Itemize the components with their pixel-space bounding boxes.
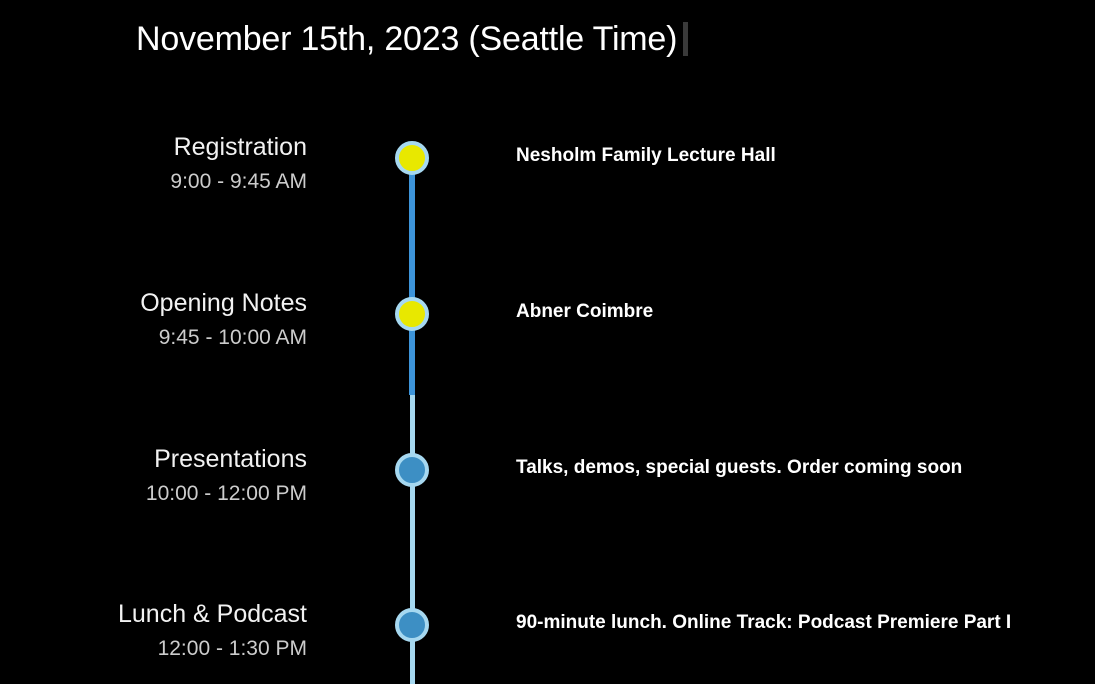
timeline-entry-time: 10:00 - 12:00 PM <box>0 480 307 508</box>
timeline-entry-meta: Opening Notes 9:45 - 10:00 AM <box>0 287 307 352</box>
timeline-spine-active <box>409 158 415 395</box>
timeline-marker-dot[interactable] <box>395 297 429 331</box>
timeline-entry-time: 9:00 - 9:45 AM <box>0 168 307 196</box>
timeline-entry-description: Talks, demos, special guests. Order comi… <box>516 457 962 479</box>
timeline-entry-description: 90-minute lunch. Online Track: Podcast P… <box>516 612 1011 634</box>
timeline-entry-time: 12:00 - 1:30 PM <box>0 635 307 663</box>
timeline-entry-description: Abner Coimbre <box>516 301 653 323</box>
timeline-entry-time: 9:45 - 10:00 AM <box>0 324 307 352</box>
timeline-entry-description: Nesholm Family Lecture Hall <box>516 145 776 167</box>
timeline-entry-name: Opening Notes <box>0 287 307 321</box>
timeline-marker-dot[interactable] <box>395 608 429 642</box>
timeline-marker-dot[interactable] <box>395 453 429 487</box>
timeline-entry-meta: Registration 9:00 - 9:45 AM <box>0 131 307 196</box>
timeline-entry-name: Presentations <box>0 443 307 477</box>
timeline-entry-meta: Presentations 10:00 - 12:00 PM <box>0 443 307 508</box>
timeline-entry-name: Lunch & Podcast <box>0 598 307 632</box>
timeline-entry-meta: Lunch & Podcast 12:00 - 1:30 PM <box>0 598 307 663</box>
timeline-entry-name: Registration <box>0 131 307 165</box>
schedule-timeline: Registration 9:00 - 9:45 AM Nesholm Fami… <box>0 0 1095 684</box>
timeline-marker-dot[interactable] <box>395 141 429 175</box>
